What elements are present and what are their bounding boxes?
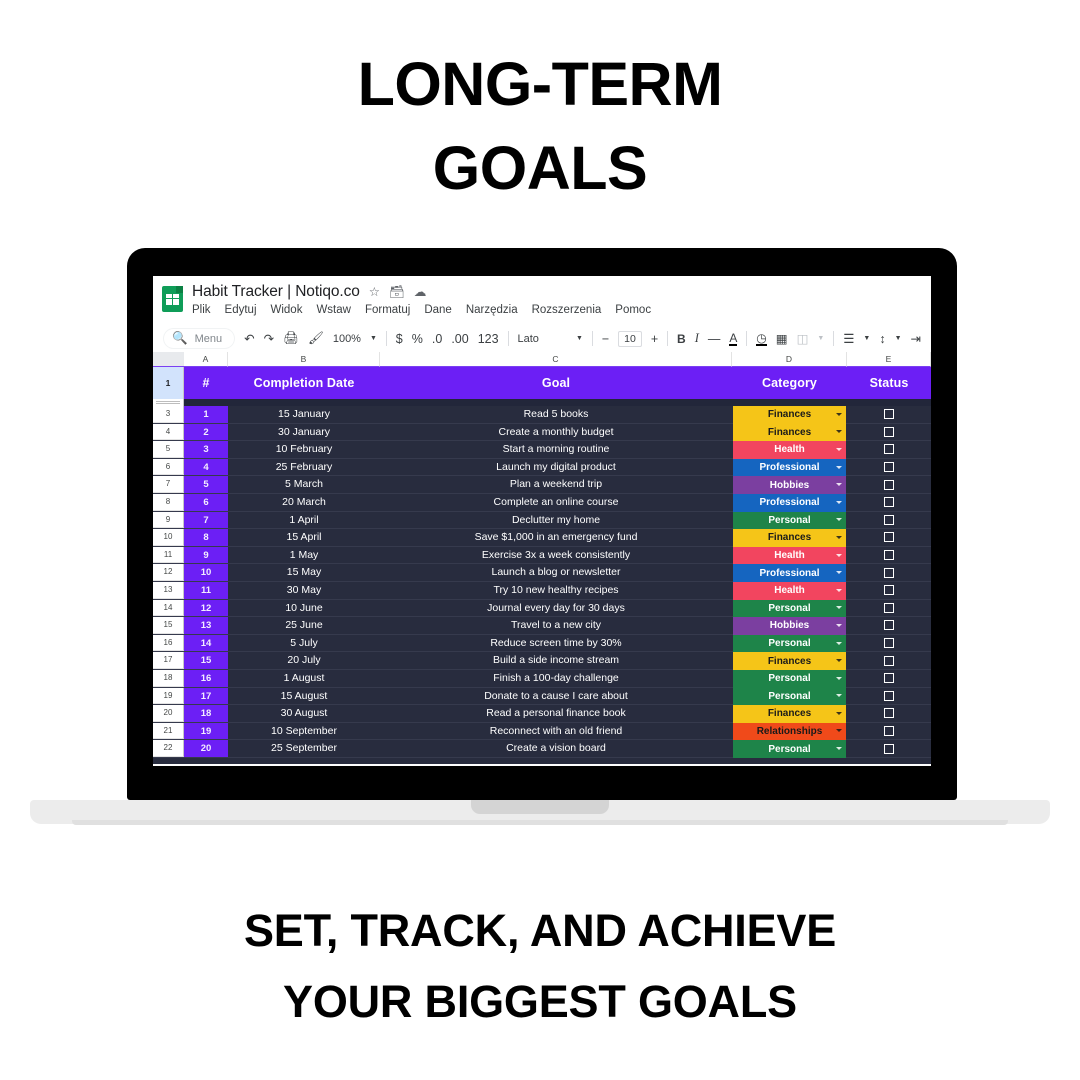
- cell-category[interactable]: Finances: [732, 406, 847, 423]
- cell-category[interactable]: Finances: [732, 529, 847, 546]
- search-menu-button[interactable]: 🔍 Menu: [163, 328, 235, 349]
- cell-goal[interactable]: Journal every day for 30 days: [380, 600, 732, 617]
- row-number[interactable]: 17: [153, 652, 184, 669]
- cell-status[interactable]: [847, 617, 931, 634]
- cell-goal[interactable]: Read 5 books: [380, 406, 732, 423]
- chevron-down-icon[interactable]: [836, 554, 842, 557]
- table-body: 3115 JanuaryRead 5 booksFinances4230 Jan…: [153, 406, 931, 758]
- cell-index[interactable]: 3: [184, 441, 228, 458]
- chevron-down-icon[interactable]: [836, 466, 842, 469]
- cell-goal[interactable]: Travel to a new city: [380, 617, 732, 634]
- table-row[interactable]: 131130 MayTry 10 new healthy recipesHeal…: [153, 582, 931, 600]
- menu-item-plik[interactable]: Plik: [192, 304, 211, 316]
- row-number[interactable]: 13: [153, 582, 184, 599]
- undo-icon[interactable]: ↶: [244, 331, 254, 346]
- cell-completion-date[interactable]: 15 May: [228, 564, 380, 581]
- category-label: Hobbies: [770, 480, 809, 491]
- category-chip[interactable]: Personal: [733, 635, 846, 653]
- category-chip[interactable]: Personal: [733, 688, 846, 706]
- category-chip[interactable]: Personal: [733, 740, 846, 758]
- cell-completion-date[interactable]: 1 April: [228, 512, 380, 529]
- status-checkbox[interactable]: [884, 515, 894, 525]
- table-row[interactable]: 5310 FebruaryStart a morning routineHeal…: [153, 441, 931, 459]
- cell-goal[interactable]: Launch a blog or newsletter: [380, 564, 732, 581]
- chevron-down-icon[interactable]: [836, 413, 842, 416]
- cell-category[interactable]: Health: [732, 547, 847, 564]
- cell-goal[interactable]: Donate to a cause I care about: [380, 688, 732, 705]
- menu-item-formatuj[interactable]: Formatuj: [365, 304, 410, 316]
- horizontal-align-icon[interactable]: ☰: [843, 331, 854, 346]
- category-label: Relationships: [757, 726, 823, 737]
- cell-index[interactable]: 16: [184, 670, 228, 687]
- cell-goal[interactable]: Create a vision board: [380, 740, 732, 757]
- decrease-font-size-button[interactable]: −: [602, 332, 609, 346]
- chevron-down-icon[interactable]: [836, 659, 842, 662]
- cell-goal[interactable]: Build a side income stream: [380, 652, 732, 669]
- cell-category[interactable]: Professional: [732, 459, 847, 476]
- category-chip[interactable]: Finances: [733, 424, 846, 442]
- cell-index[interactable]: 10: [184, 564, 228, 581]
- menu-item-dane[interactable]: Dane: [424, 304, 452, 316]
- category-chip[interactable]: Health: [733, 582, 846, 600]
- toolbar-divider: [833, 331, 834, 346]
- category-chip[interactable]: Hobbies: [733, 617, 846, 635]
- table-row[interactable]: 18161 AugustFinish a 100-day challengePe…: [153, 670, 931, 688]
- table-header-index: #: [184, 367, 228, 399]
- cell-index[interactable]: 13: [184, 617, 228, 634]
- category-label: Health: [774, 444, 805, 455]
- row-number[interactable]: 19: [153, 688, 184, 705]
- app-title-block: Habit Tracker | Notiqo.co ☆ 🗃 ☁ Plik Edy…: [192, 283, 651, 324]
- category-chip[interactable]: Health: [733, 547, 846, 565]
- spreadsheet-grid: A B C D E 1 # Completion Date Goal Categ…: [153, 352, 931, 764]
- redo-icon[interactable]: ↷: [264, 331, 274, 346]
- row-number[interactable]: 20: [153, 705, 184, 722]
- table-row[interactable]: 171520 JulyBuild a side income streamFin…: [153, 652, 931, 670]
- laptop-base-shadow: [72, 820, 1008, 825]
- cell-completion-date[interactable]: 10 February: [228, 441, 380, 458]
- chevron-down-icon[interactable]: [836, 536, 842, 539]
- print-icon[interactable]: 🖨: [283, 331, 299, 346]
- status-checkbox[interactable]: [884, 568, 894, 578]
- cell-category[interactable]: Finances: [732, 705, 847, 722]
- chevron-down-icon[interactable]: [836, 747, 842, 750]
- strikethrough-icon[interactable]: ―: [708, 332, 721, 346]
- cell-index[interactable]: 19: [184, 723, 228, 740]
- cell-category[interactable]: Relationships: [732, 723, 847, 740]
- category-label: Personal: [768, 744, 810, 755]
- cell-completion-date[interactable]: 15 January: [228, 406, 380, 423]
- row-number[interactable]: 3: [153, 406, 184, 423]
- font-family-select[interactable]: Lato: [517, 333, 567, 345]
- cell-goal[interactable]: Start a morning routine: [380, 441, 732, 458]
- status-checkbox[interactable]: [884, 444, 894, 454]
- cell-index[interactable]: 6: [184, 494, 228, 511]
- menu-item-narzedzia[interactable]: Narzędzia: [466, 304, 518, 316]
- cell-category[interactable]: Personal: [732, 512, 847, 529]
- cell-completion-date[interactable]: 1 May: [228, 547, 380, 564]
- table-row[interactable]: 222025 SeptemberCreate a vision boardPer…: [153, 740, 931, 758]
- cell-goal[interactable]: Save $1,000 in an emergency fund: [380, 529, 732, 546]
- cell-category[interactable]: Professional: [732, 494, 847, 511]
- currency-format-button[interactable]: $: [396, 332, 403, 346]
- cell-completion-date[interactable]: 30 August: [228, 705, 380, 722]
- table-row[interactable]: 8620 MarchComplete an online courseProfe…: [153, 494, 931, 512]
- row-number[interactable]: 10: [153, 529, 184, 546]
- status-checkbox[interactable]: [884, 550, 894, 560]
- select-all-corner[interactable]: [153, 352, 184, 367]
- cell-completion-date[interactable]: 30 May: [228, 582, 380, 599]
- table-row[interactable]: 971 AprilDeclutter my homePersonal: [153, 512, 931, 530]
- cell-status[interactable]: [847, 635, 931, 652]
- page-subtitle-line-2: YOUR BIGGEST GOALS: [0, 966, 1080, 1037]
- menu-bar: Plik Edytuj Widok Wstaw Formatuj Dane Na…: [192, 304, 651, 316]
- status-checkbox[interactable]: [884, 585, 894, 595]
- table-row[interactable]: 211910 SeptemberReconnect with an old fr…: [153, 723, 931, 741]
- toolbar-divider: [746, 331, 747, 346]
- toolbar-divider: [386, 331, 387, 346]
- halign-chevron-down-icon[interactable]: ▼: [863, 335, 870, 342]
- cloud-saved-icon[interactable]: ☁: [414, 286, 427, 299]
- table-row[interactable]: 191715 AugustDonate to a cause I care ab…: [153, 688, 931, 706]
- cell-completion-date[interactable]: 25 February: [228, 459, 380, 476]
- category-label: Finances: [768, 532, 811, 543]
- column-header-a[interactable]: A: [184, 352, 228, 367]
- number-format-button[interactable]: 123: [478, 332, 499, 346]
- row-number[interactable]: 11: [153, 547, 184, 564]
- table-row[interactable]: 4230 JanuaryCreate a monthly budgetFinan…: [153, 424, 931, 442]
- chevron-down-icon[interactable]: [836, 712, 842, 715]
- laptop-trackpad-notch: [471, 800, 609, 814]
- toolbar: 🔍 Menu ↶ ↷ 🖨 🖌 100% ▼ $ % .0 .00 123 Lat…: [163, 325, 921, 352]
- category-chip[interactable]: Finances: [733, 529, 846, 547]
- search-menu-label: Menu: [195, 333, 223, 345]
- cell-completion-date[interactable]: 15 August: [228, 688, 380, 705]
- cell-index[interactable]: 1: [184, 406, 228, 423]
- cell-completion-date[interactable]: 25 June: [228, 617, 380, 634]
- category-label: Finances: [768, 656, 811, 667]
- chevron-down-icon[interactable]: [836, 677, 842, 680]
- table-row[interactable]: 6425 FebruaryLaunch my digital productPr…: [153, 459, 931, 477]
- text-color-button[interactable]: A: [729, 332, 737, 346]
- category-label: Personal: [768, 673, 810, 684]
- row-number[interactable]: 18: [153, 670, 184, 687]
- zoom-level[interactable]: 100%: [333, 333, 361, 345]
- row-number[interactable]: 8: [153, 494, 184, 511]
- status-checkbox[interactable]: [884, 427, 894, 437]
- cell-goal[interactable]: Reduce screen time by 30%: [380, 635, 732, 652]
- cell-status[interactable]: [847, 406, 931, 423]
- chevron-down-icon[interactable]: [836, 589, 842, 592]
- table-header-row: 1 # Completion Date Goal Category Status: [153, 367, 931, 399]
- cell-completion-date[interactable]: 20 March: [228, 494, 380, 511]
- row-number-1[interactable]: 1: [153, 367, 184, 399]
- cell-goal[interactable]: Finish a 100-day challenge: [380, 670, 732, 687]
- cell-status[interactable]: [847, 723, 931, 740]
- category-label: Personal: [768, 691, 810, 702]
- category-chip[interactable]: Finances: [733, 705, 846, 723]
- category-label: Personal: [768, 638, 810, 649]
- cell-completion-date[interactable]: 10 September: [228, 723, 380, 740]
- laptop-screen: Habit Tracker | Notiqo.co ☆ 🗃 ☁ Plik Edy…: [153, 276, 931, 766]
- cell-goal[interactable]: Declutter my home: [380, 512, 732, 529]
- move-to-folder-icon[interactable]: 🗃: [389, 286, 405, 299]
- category-label: Finances: [768, 409, 811, 420]
- row-number[interactable]: 5: [153, 441, 184, 458]
- cell-index[interactable]: 11: [184, 582, 228, 599]
- category-label: Health: [774, 585, 805, 596]
- category-chip[interactable]: Personal: [733, 600, 846, 618]
- cell-goal[interactable]: Exercise 3x a week consistently: [380, 547, 732, 564]
- column-header-row: A B C D E: [153, 352, 931, 367]
- borders-icon[interactable]: ▦: [776, 331, 788, 346]
- search-icon: 🔍: [172, 331, 188, 346]
- cell-status[interactable]: [847, 512, 931, 529]
- table-row[interactable]: 141210 JuneJournal every day for 30 days…: [153, 600, 931, 618]
- chevron-down-icon[interactable]: [836, 483, 842, 486]
- cell-index[interactable]: 20: [184, 740, 228, 757]
- cell-index[interactable]: 2: [184, 424, 228, 441]
- category-chip[interactable]: Health: [733, 441, 846, 459]
- status-checkbox[interactable]: [884, 744, 894, 754]
- table-row[interactable]: 16145 JulyReduce screen time by 30%Perso…: [153, 635, 931, 653]
- category-chip[interactable]: Relationships: [733, 723, 846, 741]
- cell-category[interactable]: Health: [732, 582, 847, 599]
- cell-status[interactable]: [847, 688, 931, 705]
- cell-status[interactable]: [847, 670, 931, 687]
- cell-goal[interactable]: Create a monthly budget: [380, 424, 732, 441]
- cell-goal[interactable]: Complete an online course: [380, 494, 732, 511]
- menu-item-widok[interactable]: Widok: [271, 304, 303, 316]
- cell-category[interactable]: Personal: [732, 670, 847, 687]
- table-row[interactable]: 10815 AprilSave $1,000 in an emergency f…: [153, 529, 931, 547]
- decrease-decimal-button[interactable]: .0: [432, 332, 442, 346]
- category-label: Professional: [759, 497, 819, 508]
- table-header-status: Status: [847, 367, 931, 399]
- cell-category[interactable]: Finances: [732, 424, 847, 441]
- status-checkbox[interactable]: [884, 708, 894, 718]
- status-checkbox[interactable]: [884, 638, 894, 648]
- cell-status[interactable]: [847, 740, 931, 757]
- cell-index[interactable]: 4: [184, 459, 228, 476]
- star-icon[interactable]: ☆: [369, 286, 380, 299]
- document-title[interactable]: Habit Tracker | Notiqo.co: [192, 283, 360, 301]
- cell-completion-date[interactable]: 25 September: [228, 740, 380, 757]
- cell-goal[interactable]: Reconnect with an old friend: [380, 723, 732, 740]
- cell-status[interactable]: [847, 459, 931, 476]
- chevron-down-icon[interactable]: [836, 448, 842, 451]
- status-checkbox[interactable]: [884, 603, 894, 613]
- cell-goal[interactable]: Read a personal finance book: [380, 705, 732, 722]
- cell-completion-date[interactable]: 30 January: [228, 424, 380, 441]
- chevron-down-icon[interactable]: [836, 571, 842, 574]
- row-number[interactable]: 12: [153, 564, 184, 581]
- table-row[interactable]: 3115 JanuaryRead 5 booksFinances: [153, 406, 931, 424]
- category-label: Finances: [768, 427, 811, 438]
- row-number[interactable]: 15: [153, 617, 184, 634]
- cell-completion-date[interactable]: 1 August: [228, 670, 380, 687]
- menu-item-edytuj[interactable]: Edytuj: [225, 304, 257, 316]
- percent-format-button[interactable]: %: [412, 332, 423, 346]
- row-number[interactable]: 22: [153, 740, 184, 757]
- app-header: Habit Tracker | Notiqo.co ☆ 🗃 ☁ Plik Edy…: [153, 276, 931, 324]
- menu-item-rozszerzenia[interactable]: Rozszerzenia: [532, 304, 602, 316]
- menu-item-pomoc[interactable]: Pomoc: [615, 304, 651, 316]
- table-row[interactable]: 151325 JuneTravel to a new cityHobbies: [153, 617, 931, 635]
- category-chip[interactable]: Finances: [733, 406, 846, 424]
- status-checkbox[interactable]: [884, 620, 894, 630]
- row-number[interactable]: 21: [153, 723, 184, 740]
- cell-index[interactable]: 17: [184, 688, 228, 705]
- page-subtitle-line-1: SET, TRACK, AND ACHIEVE: [0, 895, 1080, 966]
- cell-category[interactable]: Personal: [732, 740, 847, 757]
- category-label: Personal: [768, 515, 810, 526]
- cell-category[interactable]: Professional: [732, 564, 847, 581]
- cell-status[interactable]: [847, 441, 931, 458]
- cell-category[interactable]: Health: [732, 441, 847, 458]
- bold-button[interactable]: B: [677, 332, 686, 346]
- hidden-row-indicator[interactable]: [153, 399, 931, 406]
- category-chip[interactable]: Personal: [733, 512, 846, 530]
- row-number[interactable]: 9: [153, 512, 184, 529]
- zoom-chevron-down-icon[interactable]: ▼: [370, 335, 377, 342]
- column-header-b[interactable]: B: [228, 352, 380, 367]
- increase-decimal-button[interactable]: .00: [451, 332, 468, 346]
- status-checkbox[interactable]: [884, 532, 894, 542]
- cell-category[interactable]: Finances: [732, 652, 847, 669]
- chevron-down-icon[interactable]: [836, 729, 842, 732]
- table-row[interactable]: 755 MarchPlan a weekend tripHobbies: [153, 476, 931, 494]
- category-label: Professional: [759, 462, 819, 473]
- cell-category[interactable]: Personal: [732, 600, 847, 617]
- increase-font-size-button[interactable]: +: [651, 332, 658, 346]
- paint-format-icon[interactable]: 🖌: [308, 331, 324, 346]
- column-header-c[interactable]: C: [380, 352, 732, 367]
- column-header-d[interactable]: D: [732, 352, 847, 367]
- cell-index[interactable]: 5: [184, 476, 228, 493]
- cell-goal[interactable]: Try 10 new healthy recipes: [380, 582, 732, 599]
- cell-index[interactable]: 14: [184, 635, 228, 652]
- grid-bottom-padding: [153, 758, 931, 764]
- font-chevron-down-icon[interactable]: ▼: [576, 335, 583, 342]
- cell-index[interactable]: 7: [184, 512, 228, 529]
- cell-index[interactable]: 12: [184, 600, 228, 617]
- category-chip[interactable]: Professional: [733, 564, 846, 582]
- cell-goal[interactable]: Plan a weekend trip: [380, 476, 732, 493]
- italic-button[interactable]: I: [695, 331, 699, 346]
- valign-chevron-down-icon[interactable]: ▼: [895, 335, 902, 342]
- cell-category[interactable]: Hobbies: [732, 617, 847, 634]
- cell-completion-date[interactable]: 5 March: [228, 476, 380, 493]
- cell-index[interactable]: 8: [184, 529, 228, 546]
- chevron-down-icon[interactable]: [836, 694, 842, 697]
- table-row[interactable]: 1191 MayExercise 3x a week consistentlyH…: [153, 547, 931, 565]
- category-label: Personal: [768, 603, 810, 614]
- text-wrap-icon[interactable]: ⇥: [911, 331, 921, 346]
- page-subtitle: SET, TRACK, AND ACHIEVE YOUR BIGGEST GOA…: [0, 895, 1080, 1037]
- row-number[interactable]: 6: [153, 459, 184, 476]
- chevron-down-icon[interactable]: [836, 606, 842, 609]
- row-number[interactable]: 4: [153, 424, 184, 441]
- status-checkbox[interactable]: [884, 691, 894, 701]
- category-label: Health: [774, 550, 805, 561]
- row-number[interactable]: 16: [153, 635, 184, 652]
- cell-completion-date[interactable]: 5 July: [228, 635, 380, 652]
- cell-status[interactable]: [847, 582, 931, 599]
- category-label: Hobbies: [770, 620, 809, 631]
- column-header-e[interactable]: E: [847, 352, 931, 367]
- cell-category[interactable]: Personal: [732, 688, 847, 705]
- table-header-goal: Goal: [380, 367, 732, 399]
- category-chip[interactable]: Personal: [733, 670, 846, 688]
- category-label: Finances: [768, 708, 811, 719]
- cell-category[interactable]: Personal: [732, 635, 847, 652]
- cell-index[interactable]: 15: [184, 652, 228, 669]
- chevron-down-icon[interactable]: [836, 624, 842, 627]
- status-checkbox[interactable]: [884, 480, 894, 490]
- row-number[interactable]: 7: [153, 476, 184, 493]
- cell-status[interactable]: [847, 600, 931, 617]
- cell-status[interactable]: [847, 476, 931, 493]
- cell-completion-date[interactable]: 20 July: [228, 652, 380, 669]
- cell-category[interactable]: Hobbies: [732, 476, 847, 493]
- cell-completion-date[interactable]: 15 April: [228, 529, 380, 546]
- status-checkbox[interactable]: [884, 497, 894, 507]
- toolbar-divider: [508, 331, 509, 346]
- category-label: Professional: [759, 568, 819, 579]
- cell-index[interactable]: 9: [184, 547, 228, 564]
- chevron-down-icon[interactable]: [836, 642, 842, 645]
- vertical-align-icon[interactable]: ↕: [879, 332, 885, 346]
- status-checkbox[interactable]: [884, 462, 894, 472]
- toolbar-divider: [592, 331, 593, 346]
- category-chip[interactable]: Finances: [733, 652, 846, 670]
- cell-status[interactable]: [847, 652, 931, 669]
- category-chip[interactable]: Hobbies: [733, 476, 846, 494]
- cell-completion-date[interactable]: 10 June: [228, 600, 380, 617]
- cell-status[interactable]: [847, 547, 931, 564]
- row-number[interactable]: 14: [153, 600, 184, 617]
- menu-item-wstaw[interactable]: Wstaw: [316, 304, 351, 316]
- cell-status[interactable]: [847, 564, 931, 581]
- category-chip[interactable]: Professional: [733, 494, 846, 512]
- table-header-category: Category: [732, 367, 847, 399]
- table-row[interactable]: 201830 AugustRead a personal finance boo…: [153, 705, 931, 723]
- status-checkbox[interactable]: [884, 409, 894, 419]
- font-size-input[interactable]: 10: [618, 331, 642, 347]
- google-sheets-icon: [162, 286, 183, 312]
- cell-goal[interactable]: Launch my digital product: [380, 459, 732, 476]
- merge-chevron-down-icon[interactable]: ▼: [817, 335, 824, 342]
- category-chip[interactable]: Professional: [733, 459, 846, 477]
- status-checkbox[interactable]: [884, 673, 894, 683]
- toolbar-divider: [667, 331, 668, 346]
- chevron-down-icon[interactable]: [836, 430, 842, 433]
- table-row[interactable]: 121015 MayLaunch a blog or newsletterPro…: [153, 564, 931, 582]
- fill-color-icon[interactable]: ◷: [756, 332, 766, 346]
- status-checkbox[interactable]: [884, 656, 894, 666]
- cell-status[interactable]: [847, 529, 931, 546]
- chevron-down-icon[interactable]: [836, 518, 842, 521]
- chevron-down-icon[interactable]: [836, 501, 842, 504]
- cell-status[interactable]: [847, 424, 931, 441]
- status-checkbox[interactable]: [884, 726, 894, 736]
- cell-status[interactable]: [847, 705, 931, 722]
- cell-status[interactable]: [847, 494, 931, 511]
- table-header-completion-date: Completion Date: [228, 367, 380, 399]
- merge-cells-icon[interactable]: ◫: [797, 331, 809, 346]
- cell-index[interactable]: 18: [184, 705, 228, 722]
